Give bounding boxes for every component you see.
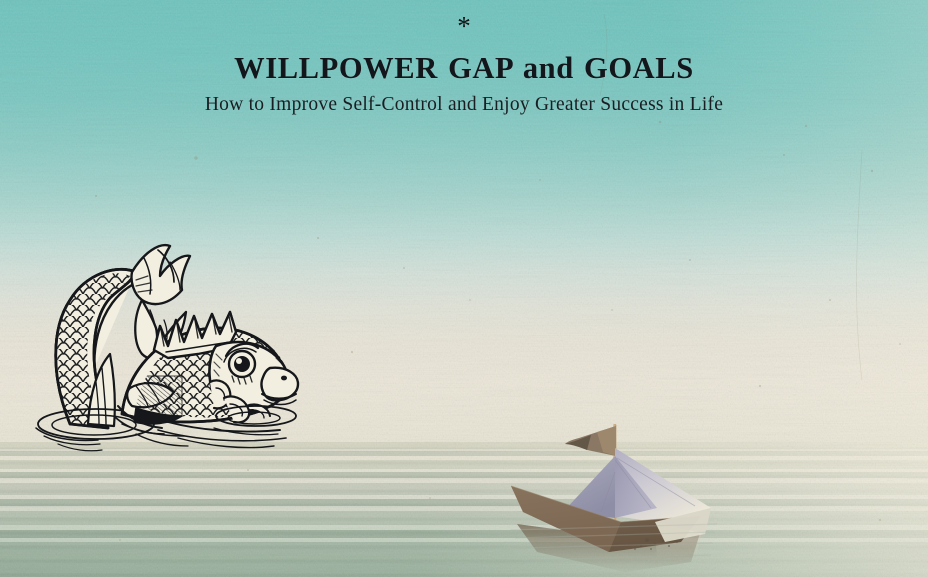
title-conjunction: and [523, 51, 574, 85]
paper-boat-illustration [505, 412, 730, 577]
cover-header: * WILLPOWER GAP and GOALS How to Improve… [0, 0, 928, 115]
book-cover-canvas: * WILLPOWER GAP and GOALS How to Improve… [0, 0, 928, 577]
sea-monster-icon [18, 228, 308, 453]
title-part-main: WILLPOWER GAP [234, 51, 512, 85]
paper-boat-icon [505, 412, 730, 577]
title-part-second: GOALS [584, 51, 694, 85]
asterisk-ornament: * [0, 13, 928, 40]
page-title: WILLPOWER GAP and GOALS [0, 52, 928, 84]
page-subtitle: How to Improve Self-Control and Enjoy Gr… [0, 94, 928, 115]
sea-monster-illustration [18, 228, 308, 453]
